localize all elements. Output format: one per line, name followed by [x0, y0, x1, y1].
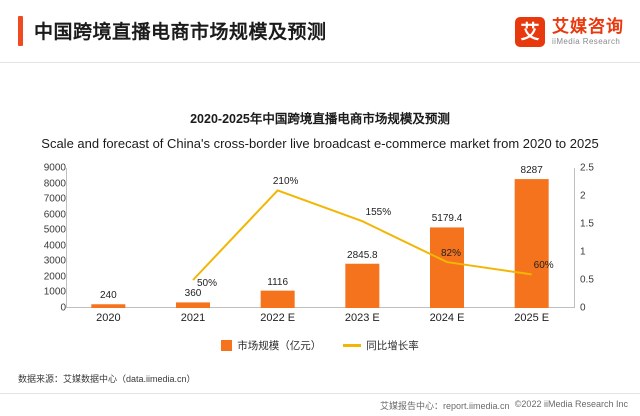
legend-swatch-line-icon — [343, 344, 361, 347]
legend-item-bar: 市场规模（亿元） — [221, 338, 321, 353]
chart-overlay — [66, 168, 574, 308]
y-tick-left: 9000 — [26, 163, 66, 174]
page-header: 中国跨境直播电商市场规模及预测 艾 艾媒咨询 iiMedia Research — [0, 0, 640, 63]
y-tick-left: 6000 — [26, 209, 66, 220]
growth-value-label: 50% — [197, 278, 217, 289]
page-title: 中国跨境直播电商市场规模及预测 — [34, 17, 327, 44]
legend-label-line: 同比增长率 — [366, 338, 419, 353]
footer-report-center: 艾媒报告中心：report.iimedia.cn — [380, 399, 510, 412]
chart-title-cn: 2020-2025年中国跨境直播电商市场规模及预测 — [0, 108, 640, 127]
legend-item-line: 同比增长率 — [343, 338, 419, 353]
y-tick-left: 0 — [26, 303, 66, 314]
bar-value-label: 8287 — [521, 165, 543, 176]
chart-page: 中国跨境直播电商市场规模及预测 艾 艾媒咨询 iiMedia Research … — [0, 0, 640, 416]
y-tick-right: 0.5 — [580, 275, 610, 286]
x-tick-label: 2022 E — [260, 312, 295, 324]
legend-label-bar: 市场规模（亿元） — [237, 338, 321, 353]
header-accent-bar — [18, 16, 23, 46]
growth-value-label: 60% — [534, 260, 554, 271]
y-tick-right: 0 — [580, 303, 610, 314]
y-tick-right: 2.5 — [580, 163, 610, 174]
chart-plot-area — [66, 168, 574, 308]
x-tick-label: 2024 E — [430, 312, 465, 324]
x-tick-label: 2021 — [181, 312, 205, 324]
growth-value-label: 210% — [273, 176, 299, 187]
right-axis-line — [574, 168, 575, 308]
bar — [345, 264, 379, 308]
growth-value-label: 155% — [366, 207, 392, 218]
bar-series — [91, 179, 548, 308]
x-axis-labels: 202020212022 E2023 E2024 E2025 E — [66, 312, 574, 328]
footer-copyright: ©2022 iiMedia Research Inc — [515, 399, 628, 409]
bar-value-label: 360 — [185, 288, 202, 299]
y-tick-right: 1.5 — [580, 219, 610, 230]
brand-name-cn: 艾媒咨询 — [552, 18, 624, 36]
bar-value-label: 2845.8 — [347, 250, 378, 261]
x-tick-label: 2023 E — [345, 312, 380, 324]
y-tick-left: 4000 — [26, 240, 66, 251]
bar-value-label: 5179.4 — [432, 213, 463, 224]
brand-logo: 艾 艾媒咨询 iiMedia Research — [515, 12, 624, 52]
y-tick-left: 7000 — [26, 194, 66, 205]
y-tick-left: 8000 — [26, 178, 66, 189]
bar — [91, 304, 125, 308]
y-tick-left: 3000 — [26, 256, 66, 267]
y-tick-right: 2 — [580, 191, 610, 202]
brand-text: 艾媒咨询 iiMedia Research — [552, 18, 624, 47]
bar-value-label: 240 — [100, 290, 117, 301]
bar-value-label: 1116 — [267, 277, 288, 288]
y-tick-left: 5000 — [26, 225, 66, 236]
bar — [261, 291, 295, 308]
chart-legend: 市场规模（亿元） 同比增长率 — [0, 338, 640, 353]
bar — [176, 302, 210, 308]
x-tick-label: 2020 — [96, 312, 120, 324]
x-tick-label: 2025 E — [514, 312, 549, 324]
brand-mark-icon: 艾 — [515, 17, 545, 47]
y-tick-left: 1000 — [26, 287, 66, 298]
page-footer: 艾媒报告中心：report.iimedia.cn ©2022 iiMedia R… — [0, 393, 640, 416]
bar — [430, 227, 464, 308]
chart-title-en: Scale and forecast of China's cross-bord… — [0, 136, 640, 151]
bar — [515, 179, 549, 308]
growth-value-label: 82% — [441, 248, 461, 259]
legend-swatch-bar-icon — [221, 340, 232, 351]
source-note: 数据来源：艾媒数据中心（data.iimedia.cn） — [18, 372, 196, 385]
brand-name-en: iiMedia Research — [552, 36, 624, 47]
y-tick-left: 2000 — [26, 271, 66, 282]
y-tick-right: 1 — [580, 247, 610, 258]
